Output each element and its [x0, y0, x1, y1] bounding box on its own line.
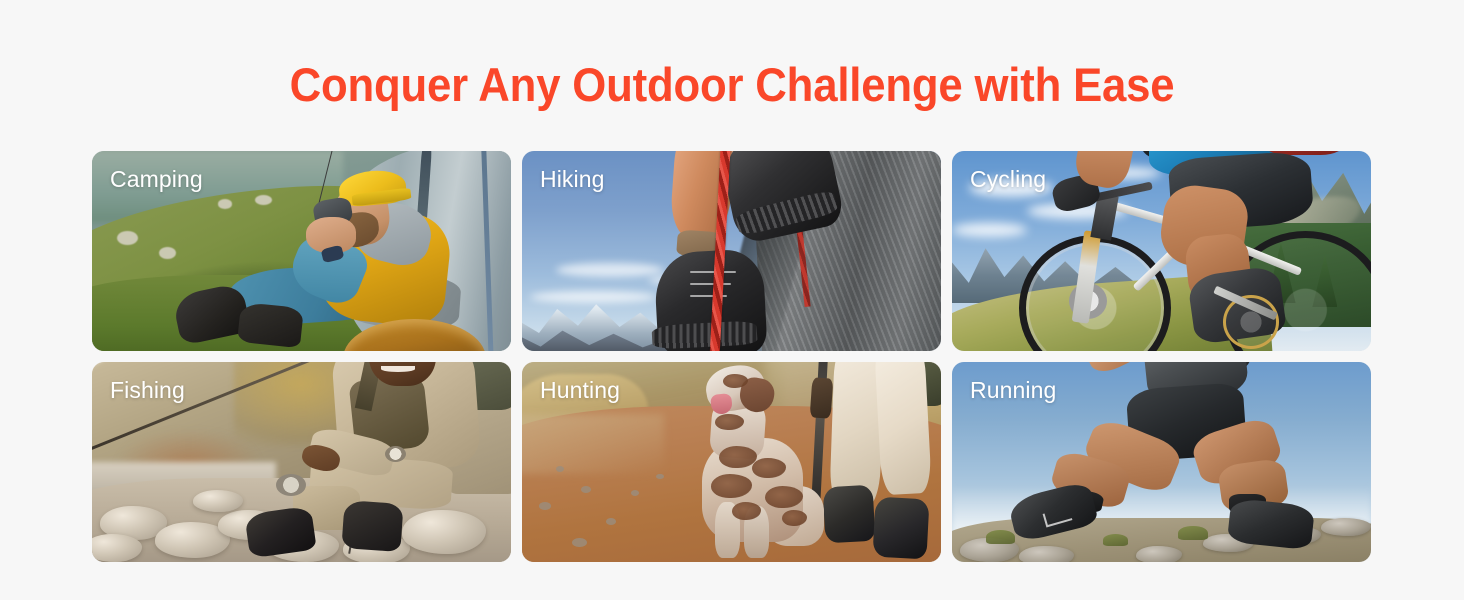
running-rock: [1136, 546, 1182, 562]
activity-label-cycling: Cycling: [970, 164, 1046, 194]
cycling-cloud: [952, 223, 1027, 237]
hunting-pebble: [656, 474, 664, 479]
hiking-bootlace: [690, 283, 732, 285]
hunting-pebble: [581, 486, 591, 493]
fishing-stone: [402, 510, 486, 554]
fishing-reel: [276, 474, 305, 496]
hunting-boot: [872, 497, 930, 560]
outdoor-activities-banner: Conquer Any Outdoor Challenge with Ease: [0, 0, 1464, 600]
hunting-dog-spot: [719, 446, 757, 468]
activity-card-fishing[interactable]: Fishing: [92, 362, 511, 562]
hiking-bootlace: [690, 271, 736, 273]
hunting-dog-spot: [732, 502, 761, 520]
hunting-pebble: [606, 518, 616, 525]
hunting-rifle-stock: [810, 377, 834, 418]
activity-card-running[interactable]: Running: [952, 362, 1371, 562]
running-grass-tuft: [986, 530, 1015, 544]
page-title: Conquer Any Outdoor Challenge with Ease: [51, 58, 1413, 112]
activity-card-hiking[interactable]: Hiking: [522, 151, 941, 351]
running-rock: [1019, 546, 1073, 562]
hiking-cloud: [556, 263, 665, 277]
running-rock: [1321, 518, 1371, 536]
fishing-person-smile: [381, 366, 415, 372]
fishing-boot: [342, 500, 404, 552]
activity-label-fishing: Fishing: [110, 375, 185, 405]
hunting-dog-spot: [765, 486, 803, 508]
hunting-boot: [822, 485, 875, 544]
hunting-pebble: [572, 538, 586, 547]
activity-card-camping[interactable]: Camping: [92, 151, 511, 351]
activity-label-hunting: Hunting: [540, 375, 620, 405]
hunting-road-edge: [522, 414, 664, 474]
activity-card-cycling[interactable]: Cycling: [952, 151, 1371, 351]
activity-label-running: Running: [970, 375, 1056, 405]
hunting-pebble: [556, 466, 564, 472]
hunting-dog-spot: [782, 510, 807, 526]
fishing-stone: [193, 490, 243, 512]
running-grass-tuft: [1103, 534, 1128, 546]
activity-label-camping: Camping: [110, 164, 203, 194]
hiking-cloud: [530, 291, 656, 303]
camping-boot: [237, 302, 304, 348]
running-grass-tuft: [1178, 526, 1207, 540]
camping-rock: [159, 247, 176, 259]
hunting-person-leg: [874, 362, 932, 495]
activity-card-grid: Camping: [92, 151, 1372, 562]
camping-rock: [117, 231, 138, 245]
activity-card-hunting[interactable]: Hunting: [522, 362, 941, 562]
activity-label-hiking: Hiking: [540, 164, 605, 194]
